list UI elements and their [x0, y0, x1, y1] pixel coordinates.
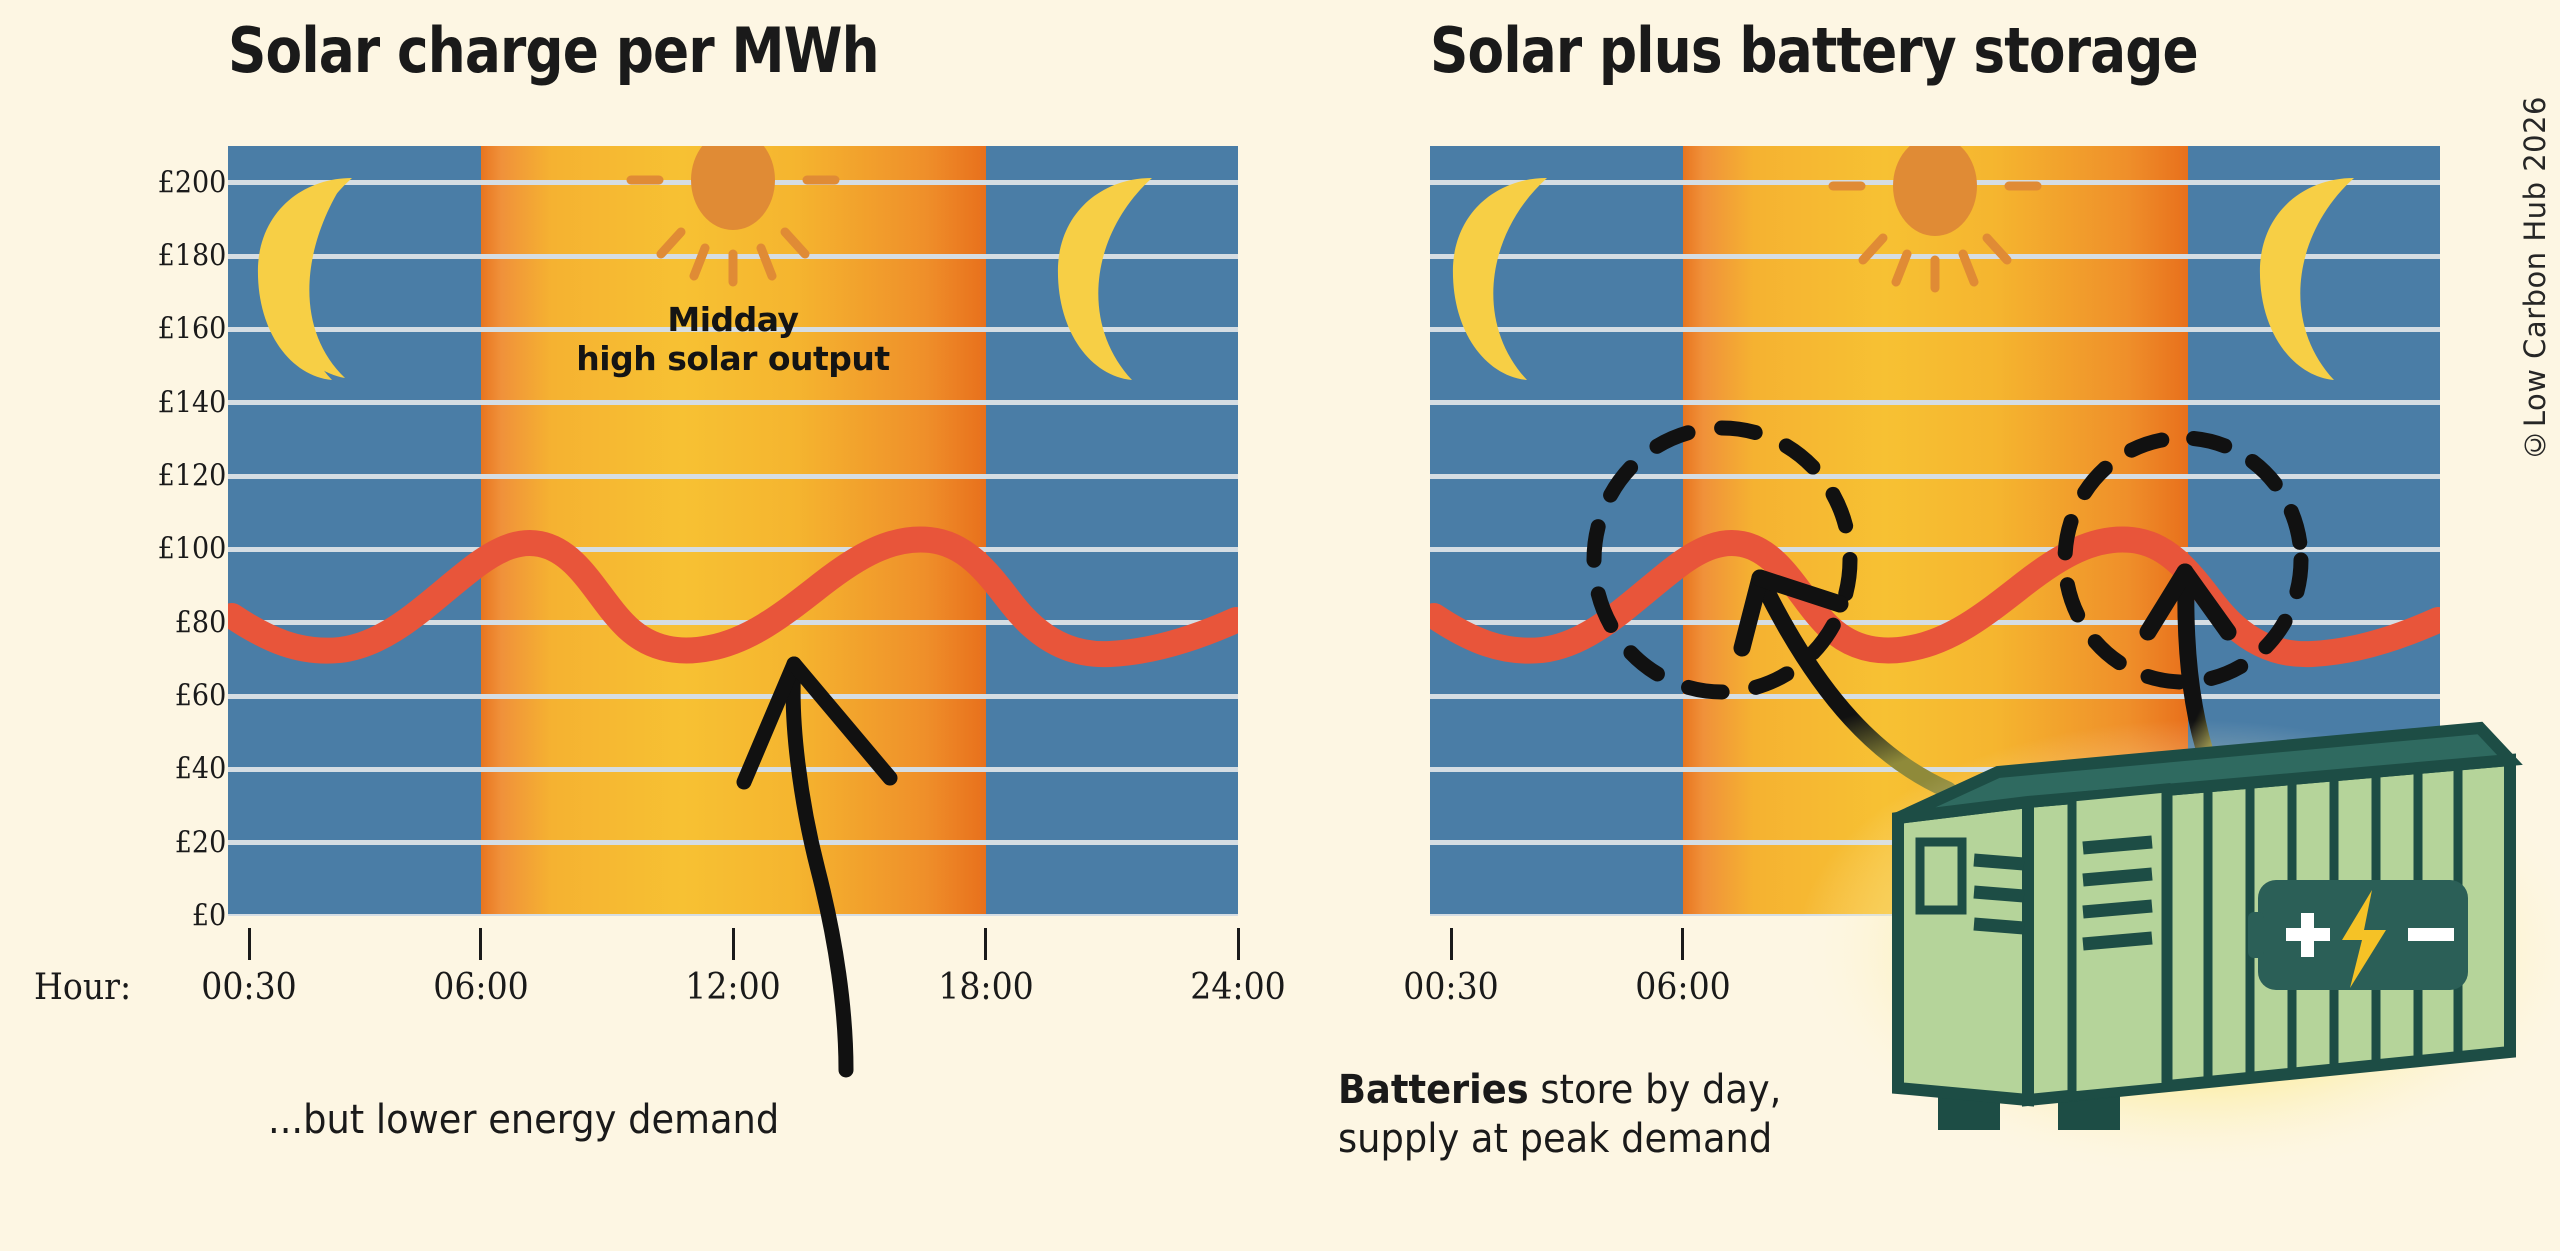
y-axis-tick-label: £160 — [157, 312, 226, 347]
gridline — [228, 474, 1238, 479]
gridline — [1430, 180, 2440, 185]
gridline — [1430, 547, 2440, 552]
x-axis-tick-label: 06:00 — [1635, 967, 1730, 1008]
right-chart-caption: Batteries store by day, supply at peak d… — [1338, 1066, 1781, 1164]
gridline — [228, 840, 1238, 845]
y-axis-tick-label: £180 — [157, 239, 226, 274]
y-axis-tick-label: £20 — [174, 825, 226, 860]
left-chart-caption: ...but lower energy demand — [268, 1096, 779, 1145]
y-axis-tick-label: £120 — [157, 459, 226, 494]
batteries-bold-word: Batteries — [1338, 1067, 1529, 1113]
x-axis-labels-left: 00:3006:0012:0018:0024:00 — [228, 967, 1238, 1015]
x-axis-tick — [732, 928, 735, 960]
y-axis-tick-label: £100 — [157, 532, 226, 567]
x-axis-tick — [984, 928, 987, 960]
gridline — [1430, 620, 2440, 625]
x-axis-tick — [479, 928, 482, 960]
gridline — [228, 180, 1238, 185]
y-axis-tick-label: £80 — [174, 605, 226, 640]
battery-minus-icon — [2408, 928, 2454, 941]
y-axis-tick-label: £200 — [157, 165, 226, 200]
gridline — [1430, 474, 2440, 479]
gridline — [1430, 400, 2440, 405]
gridline — [1430, 694, 2440, 699]
right-caption-line2: supply at peak demand — [1338, 1115, 1781, 1164]
gridline — [1430, 327, 2440, 332]
gridline — [228, 400, 1238, 405]
left-chart-title: Solar charge per MWh — [228, 14, 879, 87]
battery-container-illustration — [1880, 700, 2560, 1170]
y-axis-tick-label: £40 — [174, 752, 226, 787]
midday-line2: high solar output — [576, 340, 889, 379]
right-caption-rest: store by day, — [1529, 1067, 1782, 1113]
infographic-stage: Solar charge per MWh Midday high solar o… — [0, 0, 2560, 1251]
gridline — [1430, 254, 2440, 259]
gridline — [228, 767, 1238, 772]
x-axis-tick-label: 06:00 — [433, 967, 528, 1008]
x-axis-tick-label: 18:00 — [938, 967, 1033, 1008]
gridlines-left — [228, 146, 1238, 916]
x-axis-tick — [1237, 928, 1240, 960]
x-axis-tick-label: 24:00 — [1190, 967, 1285, 1008]
gridline — [228, 254, 1238, 259]
y-axis-tick-label: £140 — [157, 385, 226, 420]
battery-end-window — [1920, 842, 1962, 910]
gridline — [228, 694, 1238, 699]
x-axis-ticks-left — [228, 928, 1238, 968]
midday-annotation: Midday high solar output — [576, 301, 889, 379]
y-axis-tick-label: £60 — [174, 679, 226, 714]
midday-line1: Midday — [576, 301, 889, 340]
x-axis-tick-label: 00:30 — [201, 967, 296, 1008]
gridline — [228, 620, 1238, 625]
y-axis-tick-label: £0 — [192, 899, 226, 934]
x-axis-tick-label: 12:00 — [685, 967, 780, 1008]
right-caption-line1: Batteries store by day, — [1338, 1066, 1781, 1115]
right-chart-title: Solar plus battery storage — [1430, 14, 2198, 87]
x-axis-tick — [248, 928, 251, 960]
hour-prefix-label: Hour: — [34, 967, 131, 1008]
y-axis-labels-left: £200£180£160£140£120£100£80£60£40£20£0 — [66, 146, 226, 916]
copyright-notice: ©Low Carbon Hub 2026 — [2518, 96, 2552, 462]
x-axis-tick — [1450, 928, 1453, 960]
x-axis-tick-label: 00:30 — [1403, 967, 1498, 1008]
left-plot-area: Midday high solar output — [228, 146, 1238, 916]
gridline — [228, 914, 1238, 917]
gridline — [228, 547, 1238, 552]
battery-badge-nub — [2248, 912, 2264, 958]
x-axis-tick — [1681, 928, 1684, 960]
